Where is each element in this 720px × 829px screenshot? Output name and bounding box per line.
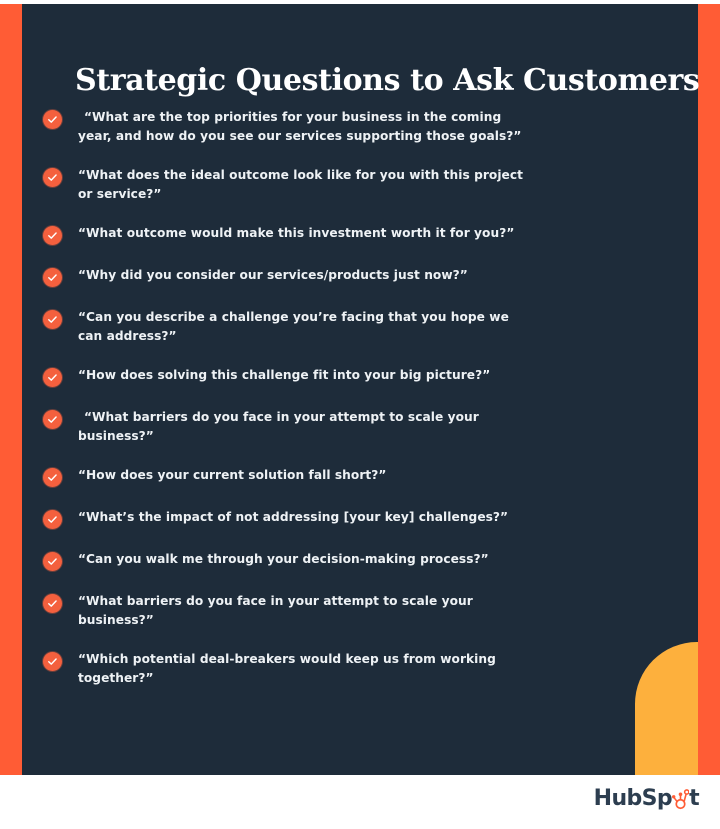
question-item: “How does solving this challenge fit int… bbox=[43, 366, 643, 388]
question-item: “Why did you consider our services/produ… bbox=[43, 266, 643, 288]
check-circle-icon bbox=[43, 168, 62, 187]
question-item: “How does your current solution fall sho… bbox=[43, 466, 643, 488]
check-circle-icon bbox=[43, 468, 62, 487]
check-circle-icon bbox=[43, 110, 62, 129]
question-item: “Can you walk me through your decision-m… bbox=[43, 550, 643, 572]
question-item: “What barriers do you face in your attem… bbox=[43, 592, 643, 630]
hubspot-sprocket-icon bbox=[672, 789, 689, 811]
question-text: “What barriers do you face in your attem… bbox=[78, 408, 533, 446]
amber-decorative-shape bbox=[635, 642, 698, 775]
question-text: “How does your current solution fall sho… bbox=[78, 466, 533, 485]
question-item: “What outcome would make this investment… bbox=[43, 224, 643, 246]
infographic-canvas: Strategic Questions to Ask Customers “Wh… bbox=[0, 0, 720, 829]
check-circle-icon bbox=[43, 268, 62, 287]
check-circle-icon bbox=[43, 510, 62, 529]
question-text: “Can you walk me through your decision-m… bbox=[78, 550, 533, 569]
question-text: “What barriers do you face in your attem… bbox=[78, 592, 533, 630]
footer-bar: HubSp t bbox=[0, 775, 720, 829]
question-text: “What’s the impact of not addressing [yo… bbox=[78, 508, 533, 527]
check-circle-icon bbox=[43, 226, 62, 245]
question-item: “What does the ideal outcome look like f… bbox=[43, 166, 643, 204]
question-text: “Can you describe a challenge you’re fac… bbox=[78, 308, 533, 346]
page-title: Strategic Questions to Ask Customers bbox=[75, 62, 635, 100]
check-circle-icon bbox=[43, 652, 62, 671]
question-item: “Can you describe a challenge you’re fac… bbox=[43, 308, 643, 346]
hubspot-logo: HubSp t bbox=[594, 788, 699, 810]
question-text: “What does the ideal outcome look like f… bbox=[78, 166, 533, 204]
question-text: “What outcome would make this investment… bbox=[78, 224, 533, 243]
question-item: “What barriers do you face in your attem… bbox=[43, 408, 643, 446]
question-item: “What are the top priorities for your bu… bbox=[43, 108, 643, 146]
check-circle-icon bbox=[43, 368, 62, 387]
check-circle-icon bbox=[43, 594, 62, 613]
left-accent-bar bbox=[0, 4, 22, 775]
right-accent-bar bbox=[698, 4, 720, 775]
check-circle-icon bbox=[43, 310, 62, 329]
question-text: “Why did you consider our services/produ… bbox=[78, 266, 533, 285]
check-circle-icon bbox=[43, 552, 62, 571]
question-text: “How does solving this challenge fit int… bbox=[78, 366, 533, 385]
question-item: “What’s the impact of not addressing [yo… bbox=[43, 508, 643, 530]
question-text: “Which potential deal-breakers would kee… bbox=[78, 650, 533, 688]
question-item: “Which potential deal-breakers would kee… bbox=[43, 650, 643, 688]
question-text: “What are the top priorities for your bu… bbox=[78, 108, 533, 146]
check-circle-icon bbox=[43, 410, 62, 429]
logo-text-before: HubSp bbox=[594, 788, 672, 810]
logo-text-after: t bbox=[689, 788, 699, 810]
questions-list: “What are the top priorities for your bu… bbox=[43, 108, 643, 688]
